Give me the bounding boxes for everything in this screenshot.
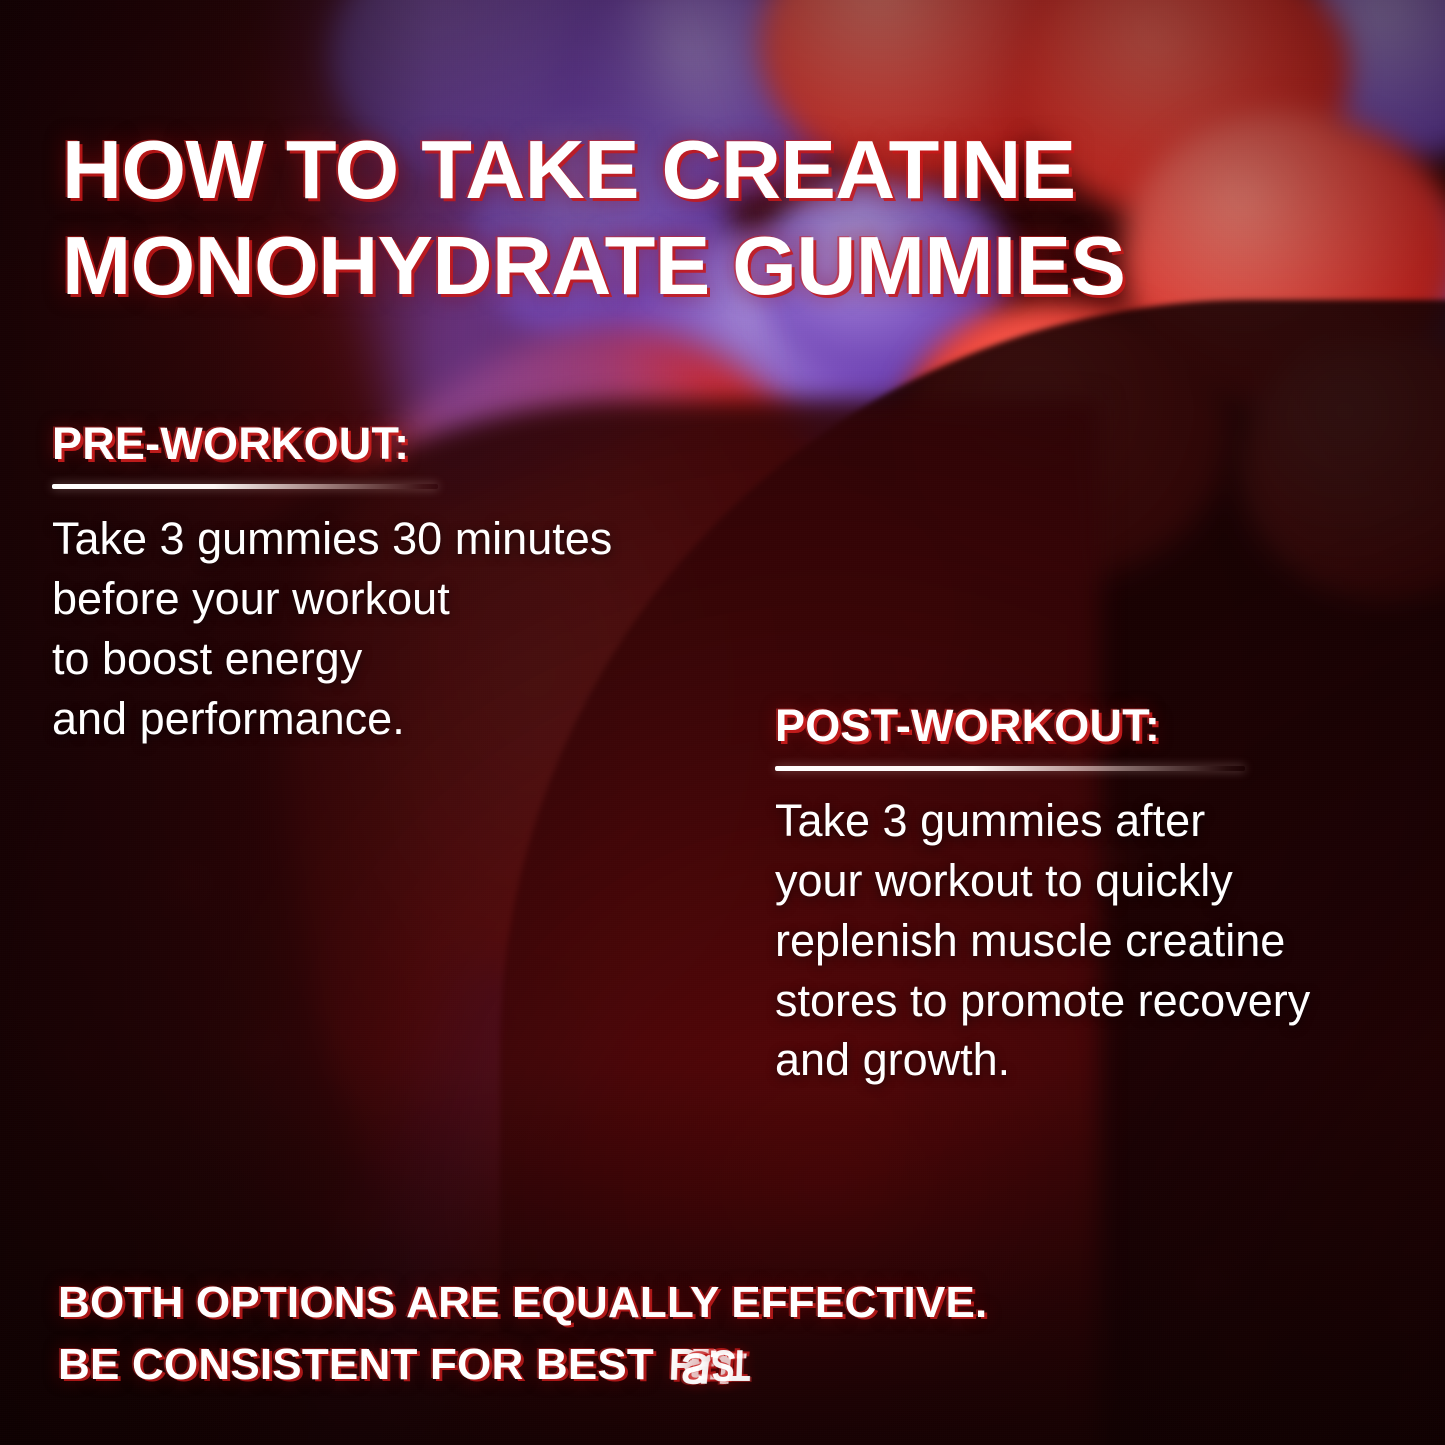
glitch-part-c: TS. (715, 1333, 752, 1395)
post-body-line-1: Take 3 gummies after (775, 791, 1425, 851)
post-body-line-4: stores to promote recovery (775, 971, 1425, 1031)
section-pre-workout: PRE-WORKOUT: Take 3 gummies 30 minutes b… (52, 418, 752, 748)
page-title-line-2: MONOHYDRATE GUMMIES (62, 218, 1402, 314)
pre-body-line-1: Take 3 gummies 30 minutes (52, 509, 752, 569)
pre-body-line-4: and performance. (52, 689, 752, 749)
post-body-line-2: your workout to quickly (775, 851, 1425, 911)
section-post-workout-title: POST-WORKOUT: (775, 700, 1425, 752)
footer-line-2-prefix: BE CONSISTENT FOR BEST (58, 1340, 666, 1389)
section-post-workout-rule (775, 766, 1245, 771)
section-post-workout-body: Take 3 gummies after your workout to qui… (775, 791, 1425, 1090)
footer-line-2: BE CONSISTENT FOR BEST RESULTS. (58, 1334, 1398, 1396)
post-body-line-3: replenish muscle creatine (775, 911, 1425, 971)
post-body-line-5: and growth. (775, 1030, 1425, 1090)
section-pre-workout-rule (52, 484, 438, 489)
section-post-workout: POST-WORKOUT: Take 3 gummies after your … (775, 700, 1425, 1090)
section-pre-workout-title: PRE-WORKOUT: (52, 418, 752, 470)
footer-glitched-results-word: RESULTS. (668, 1334, 754, 1396)
footer-note: BOTH OPTIONS ARE EQUALLY EFFECTIVE. BE C… (58, 1272, 1398, 1397)
page-title: HOW TO TAKE CREATINE MONOHYDRATE GUMMIES (62, 122, 1402, 315)
pre-body-line-2: before your workout (52, 569, 752, 629)
page-title-line-1: HOW TO TAKE CREATINE (62, 122, 1402, 218)
pre-body-line-3: to boost energy (52, 629, 752, 689)
poster-canvas: HOW TO TAKE CREATINE MONOHYDRATE GUMMIES… (0, 0, 1445, 1445)
footer-line-1: BOTH OPTIONS ARE EQUALLY EFFECTIVE. (58, 1272, 1398, 1334)
section-pre-workout-body: Take 3 gummies 30 minutes before your wo… (52, 509, 752, 748)
